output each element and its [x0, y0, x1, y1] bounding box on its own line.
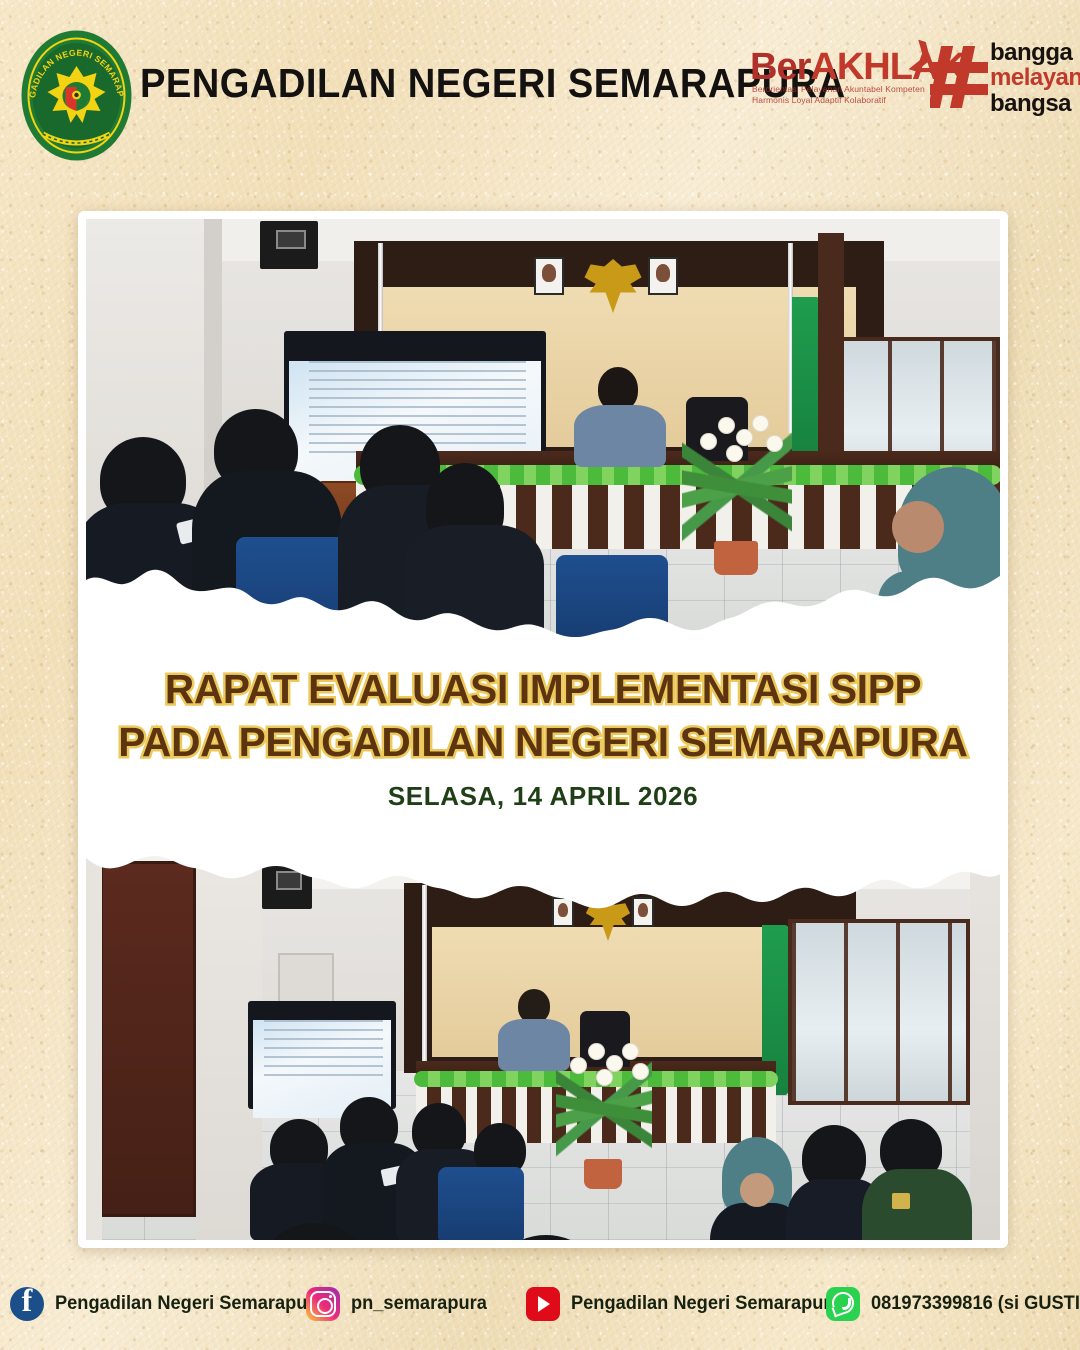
- instagram-icon[interactable]: [306, 1287, 340, 1321]
- page-title: PENGADILAN NEGERI SEMARAPURA: [140, 60, 846, 107]
- footer-item-whatsapp[interactable]: 081973399816 (si GUSTI): [826, 1287, 1080, 1321]
- berakhlak-tagline: Berorientasi Pelayanan Akuntabel Kompete…: [752, 84, 925, 106]
- facebook-icon[interactable]: [10, 1287, 44, 1321]
- whatsapp-number: 081973399816 (si GUSTI): [871, 1293, 1080, 1315]
- caption-block: RAPAT EVALUASI IMPLEMENTASI SIPP PADA PE…: [86, 637, 1000, 837]
- hash-icon: [930, 42, 992, 112]
- footer-item-instagram[interactable]: pn_semarapura: [306, 1287, 493, 1321]
- berakhlak-logo: BerAKHLAK ❯ Berorientasi Pelayanan Akunt…: [744, 36, 1062, 116]
- caption-title-line2: PADA PENGADILAN NEGERI SEMARAPURA: [118, 719, 967, 766]
- meeting-photo-top: [86, 219, 1000, 637]
- facebook-handle: Pengadilan Negeri Semarapura: [55, 1293, 325, 1315]
- footer-item-facebook[interactable]: Pengadilan Negeri Semarapura: [10, 1287, 336, 1321]
- pengadilan-negeri-semarapura-seal-icon: PENGADILAN NEGERI SEMARAPURA: [19, 28, 134, 163]
- photo-card: RAPAT EVALUASI IMPLEMENTASI SIPP PADA PE…: [78, 211, 1008, 1248]
- social-footer: Pengadilan Negeri Semarapura pn_semarapu…: [0, 1258, 1080, 1350]
- instagram-handle: pn_semarapura: [351, 1293, 487, 1315]
- youtube-icon[interactable]: [526, 1287, 560, 1321]
- poster-header: PENGADILAN NEGERI SEMARAPURA PENGADILAN …: [0, 0, 1080, 178]
- bangga-melayani-bangsa: bangga melayani bangsa: [990, 40, 1080, 116]
- youtube-handle: Pengadilan Negeri Semarapura: [571, 1293, 841, 1315]
- footer-item-youtube[interactable]: Pengadilan Negeri Semarapura: [526, 1287, 852, 1321]
- caption-title-line1: RAPAT EVALUASI IMPLEMENTASI SIPP: [165, 666, 921, 713]
- caption-date: SELASA, 14 APRIL 2026: [388, 781, 698, 812]
- whatsapp-icon[interactable]: [826, 1287, 860, 1321]
- meeting-photo-bottom: [86, 837, 1000, 1240]
